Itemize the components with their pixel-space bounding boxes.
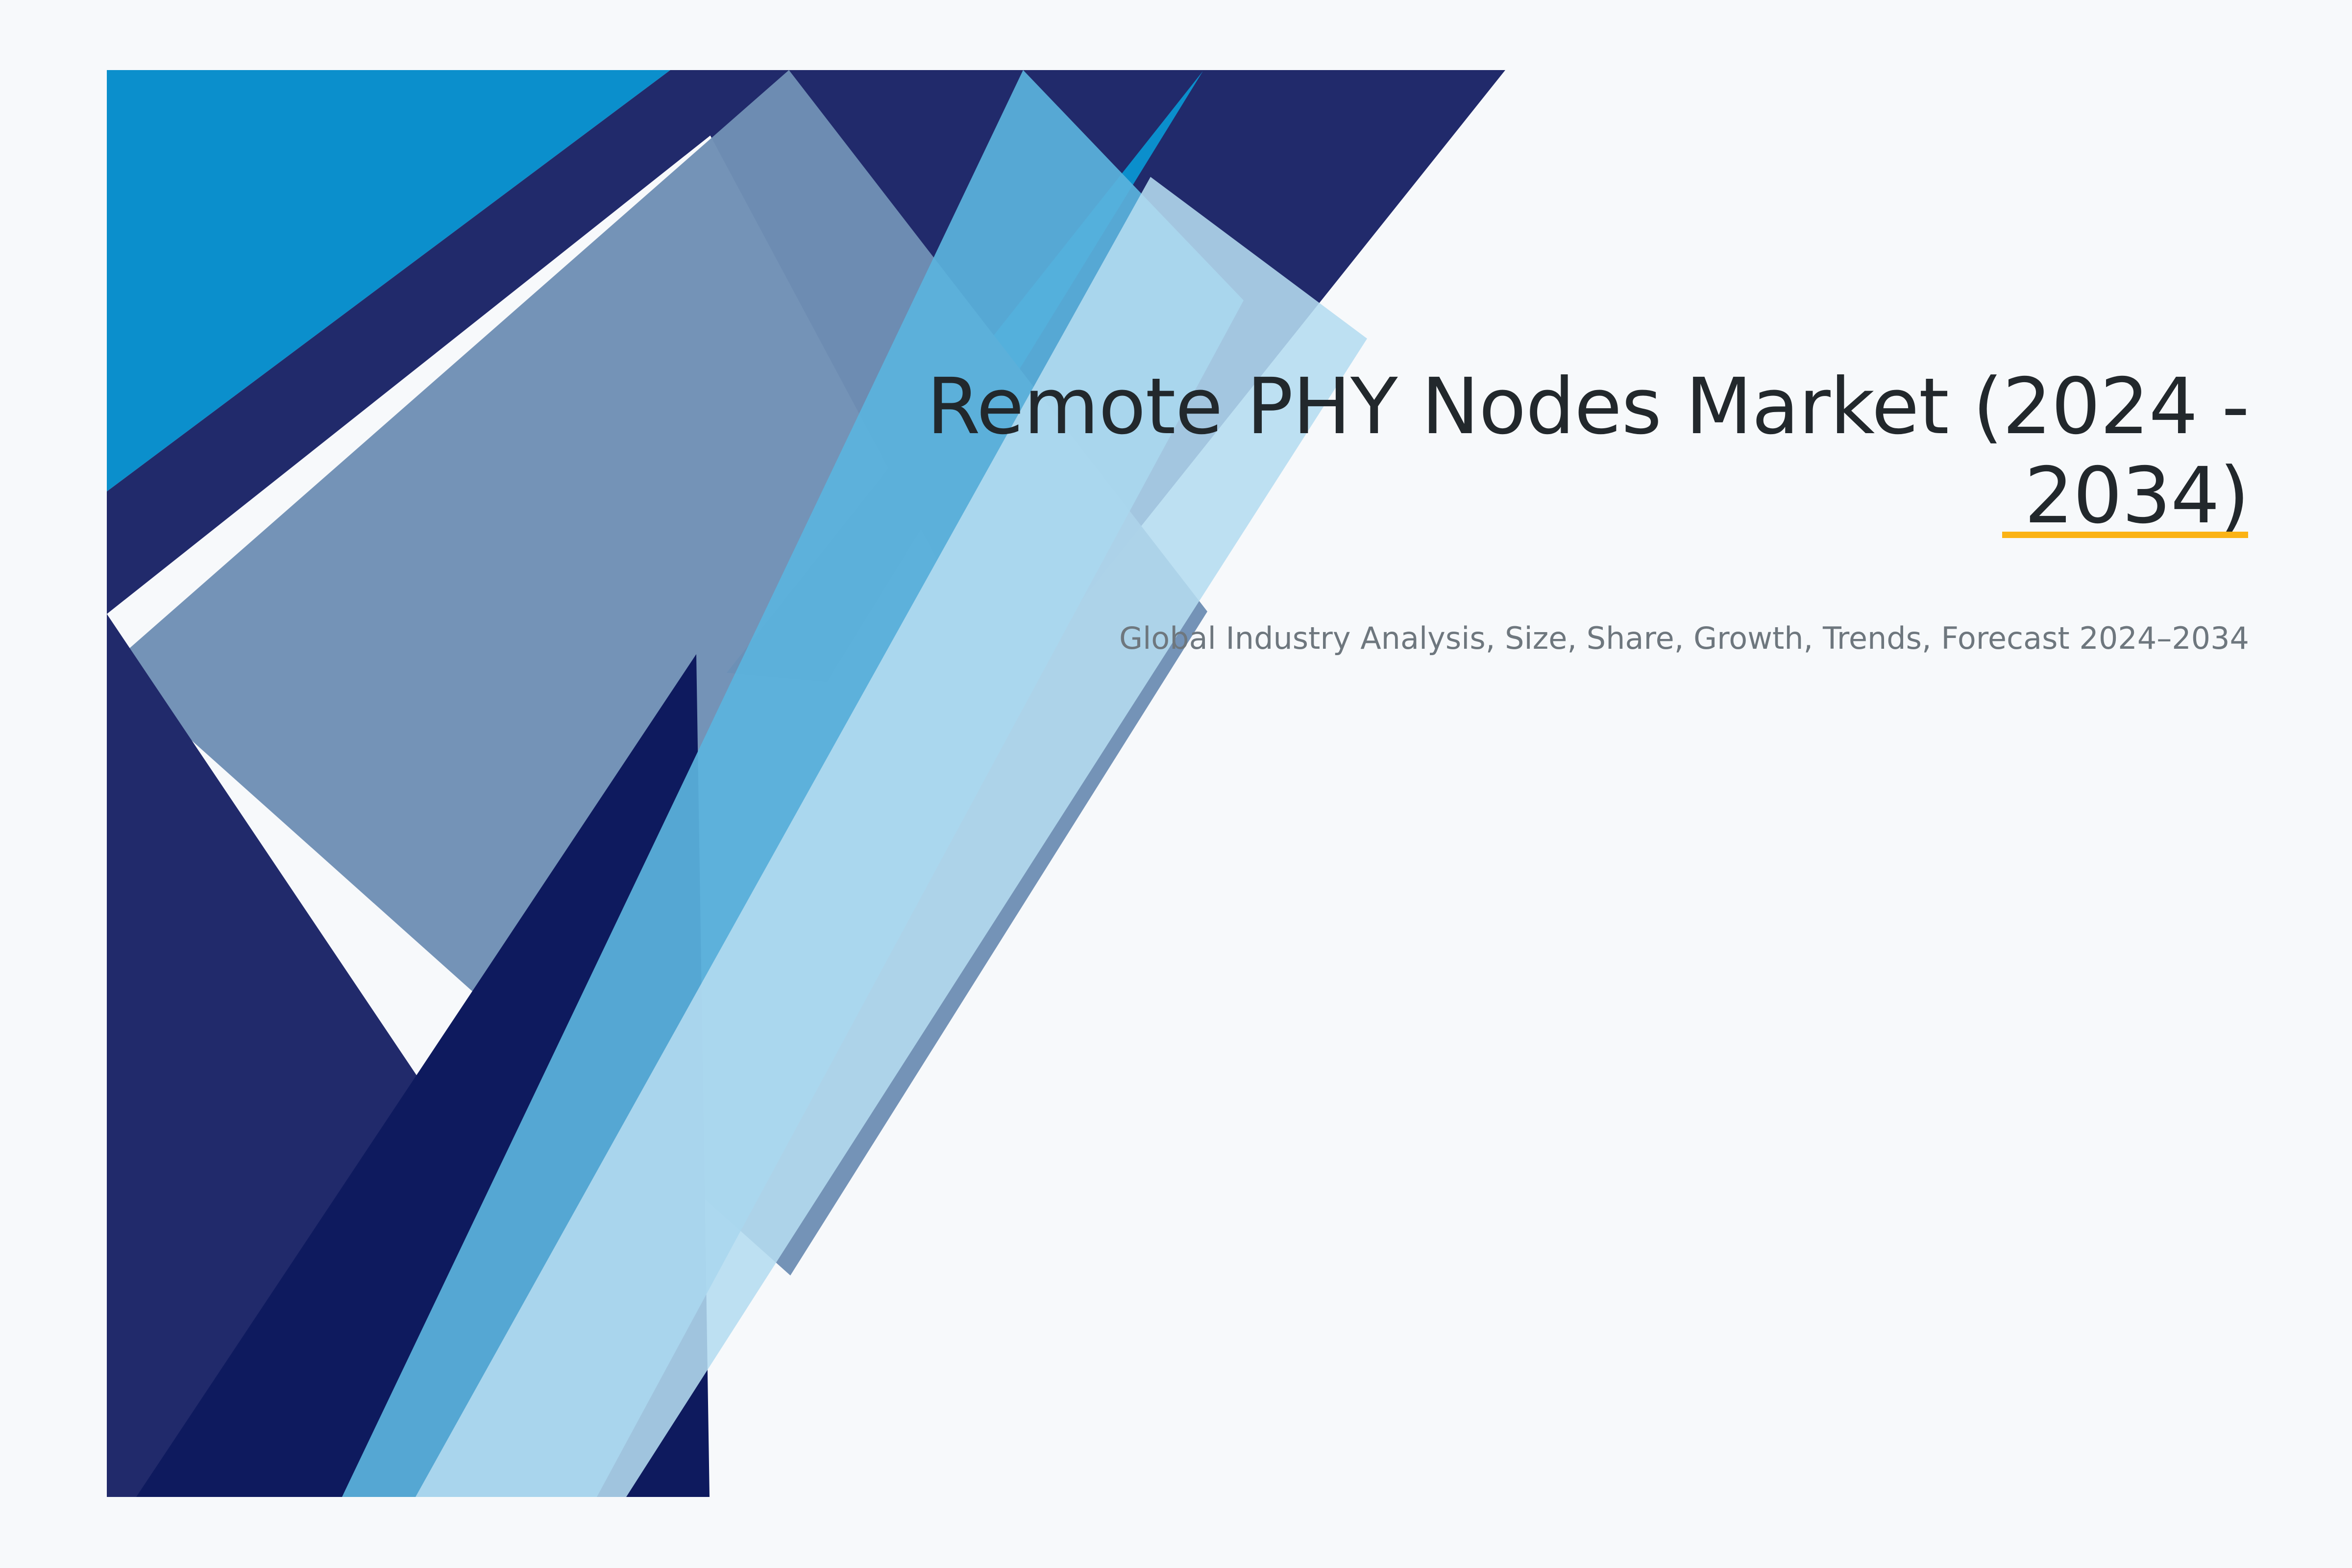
page-title: Remote PHY Nodes Market (2024 - 2034) (926, 363, 2249, 540)
report-cover-page: Remote PHY Nodes Market (2024 - 2034) Gl… (0, 0, 2352, 1568)
abstract-polygon-artwork (107, 70, 1508, 1497)
title-accent-underline (2002, 532, 2248, 538)
cover-text-block: Remote PHY Nodes Market (2024 - 2034) Gl… (926, 363, 2249, 659)
page-subtitle: Global Industry Analysis, Size, Share, G… (926, 540, 2249, 659)
